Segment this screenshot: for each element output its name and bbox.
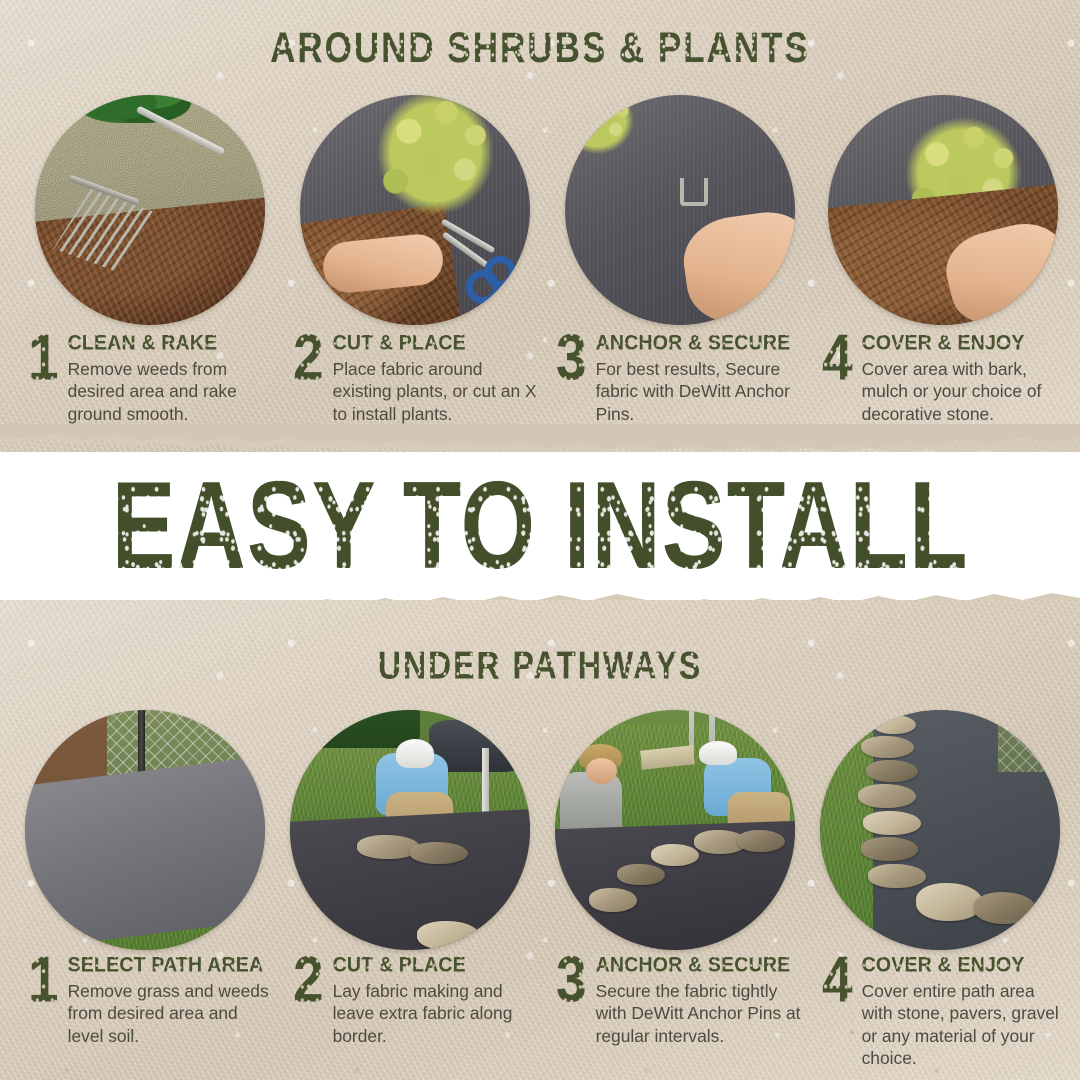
- step-number: 3: [556, 952, 587, 1008]
- step-number: 1: [28, 330, 59, 386]
- stone: [737, 830, 785, 852]
- finished-stone-bordered-path-photo: [820, 710, 1060, 950]
- worker-cap: [396, 739, 434, 768]
- step-number: 2: [293, 952, 324, 1008]
- step-heading: CUT & PLACE: [333, 953, 533, 978]
- border-stone: [916, 883, 983, 921]
- border-stone: [868, 864, 926, 888]
- section-title-around-shrubs-text: AROUND SHRUBS & PLANTS: [270, 24, 810, 73]
- shrub-plant: [369, 95, 502, 224]
- border-stone: [861, 837, 919, 861]
- anchor-pin: [680, 178, 708, 206]
- step-card: 3 ANCHOR & SECURE Secure the fabric tigh…: [556, 952, 808, 1047]
- landscape-fabric: [290, 808, 530, 950]
- step-description: For best results, Secure fabric with DeW…: [596, 358, 806, 425]
- step-description: Remove grass and weeds from desired area…: [68, 980, 278, 1047]
- step-card: 4 COVER & ENJOY Cover area with bark, mu…: [822, 330, 1067, 425]
- worker-laying-stones-photo: [290, 710, 530, 950]
- step-card: 1 SELECT PATH AREA Remove grass and weed…: [28, 952, 278, 1047]
- step-heading: ANCHOR & SECURE: [596, 331, 806, 356]
- photo-art: [290, 710, 530, 950]
- landscape-fabric: [565, 95, 795, 325]
- photo-art: [820, 710, 1060, 950]
- hand-upper: [619, 95, 737, 183]
- step-heading: SELECT PATH AREA: [68, 953, 278, 978]
- chain-link-fence: [998, 710, 1060, 772]
- step-description: Secure the fabric tightly with DeWitt An…: [596, 980, 808, 1047]
- step-heading: CUT & PLACE: [333, 331, 538, 356]
- border-stone: [873, 715, 916, 734]
- photo-art: [555, 710, 795, 950]
- infographic-poster: AROUND SHRUBS & PLANTS: [0, 0, 1080, 1080]
- hand-inserting-anchor-pin-photo: [565, 95, 795, 325]
- border-stone: [866, 760, 919, 782]
- step-description: Cover area with bark, mulch or your choi…: [862, 358, 1067, 425]
- rake-on-mulch-photo: [35, 95, 265, 325]
- section-title-under-pathways: UNDER PATHWAYS: [0, 643, 1080, 688]
- scissors-handle-b: [484, 256, 516, 288]
- step-number: 1: [28, 952, 59, 1008]
- step-card: 3 ANCHOR & SECURE For best results, Secu…: [556, 330, 806, 425]
- rake-on-mulch-photo-art: [35, 95, 265, 325]
- two-workers-placing-stones-photo: [555, 710, 795, 950]
- fabric-on-lawn-by-fence-photo: [25, 710, 265, 950]
- worker-cap-right: [699, 741, 737, 765]
- step-card: 4 COVER & ENJOY Cover entire path area w…: [822, 952, 1070, 1069]
- landscape-fabric-roll: [25, 755, 265, 950]
- hand-lower: [678, 206, 795, 325]
- section-title-around-shrubs: AROUND SHRUBS & PLANTS: [0, 24, 1080, 73]
- step-heading: ANCHOR & SECURE: [596, 953, 808, 978]
- step-number: 2: [293, 330, 324, 386]
- step-heading: COVER & ENJOY: [862, 953, 1070, 978]
- step-number: 4: [822, 330, 853, 386]
- hands-placing-fabric-around-shrub-photo: [300, 95, 530, 325]
- step-description: Lay fabric making and leave extra fabric…: [333, 980, 533, 1047]
- easy-to-install-banner: EASY TO INSTALL: [0, 452, 1080, 600]
- step-card: 2 CUT & PLACE Lay fabric making and leav…: [293, 952, 533, 1047]
- photo-art: [25, 710, 265, 950]
- border-stone: [858, 784, 916, 808]
- border-stone: [861, 736, 914, 758]
- step-number: 3: [556, 330, 587, 386]
- step-number: 4: [822, 952, 853, 1008]
- hands-spreading-mulch-photo: [828, 95, 1058, 325]
- step-card: 1 CLEAN & RAKE Remove weeds from desired…: [28, 330, 268, 425]
- stone: [589, 888, 637, 912]
- stone: [410, 842, 468, 864]
- landscape-fabric: [300, 95, 530, 325]
- section-title-under-pathways-text: UNDER PATHWAYS: [378, 643, 702, 688]
- stone: [617, 864, 665, 886]
- border-stone: [863, 811, 921, 835]
- stone: [417, 921, 479, 950]
- step-description: Place fabric around existing plants, or …: [333, 358, 538, 425]
- step-description: Remove weeds from desired area and rake …: [68, 358, 268, 425]
- step-heading: COVER & ENJOY: [862, 331, 1067, 356]
- stone: [651, 844, 699, 866]
- step-heading: CLEAN & RAKE: [68, 331, 268, 356]
- easy-to-install-title: EASY TO INSTALL: [111, 464, 968, 588]
- landscape-fabric: [828, 95, 1058, 325]
- step-card: 2 CUT & PLACE Place fabric around existi…: [293, 330, 538, 425]
- border-stone: [974, 892, 1036, 923]
- step-description: Cover entire path area with stone, paver…: [862, 980, 1070, 1069]
